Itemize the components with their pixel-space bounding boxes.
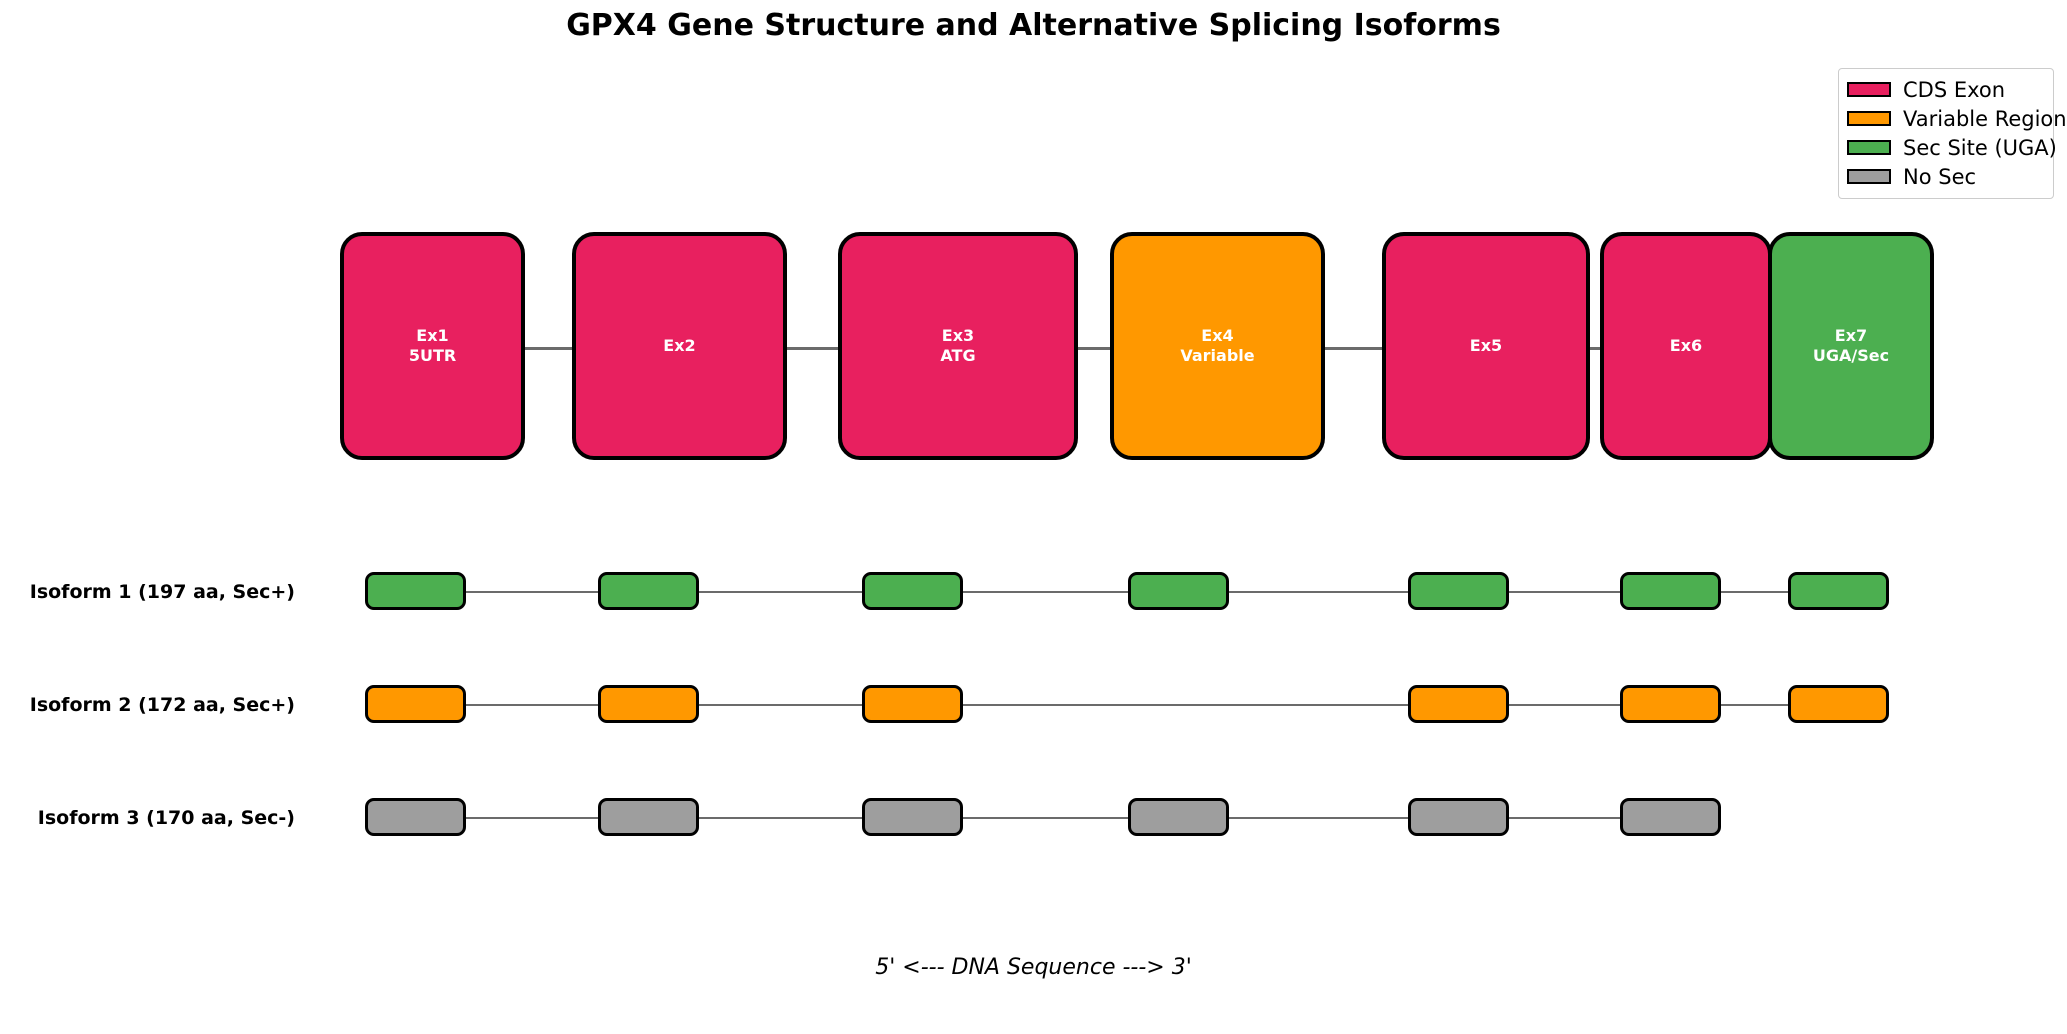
- isoform-3-block-ex4[interactable]: [1128, 798, 1229, 836]
- isoform-connector: [963, 704, 1408, 706]
- isoform-1-block-ex1[interactable]: [365, 572, 466, 610]
- isoform-2-block-ex3[interactable]: [862, 685, 963, 723]
- exon-box-ex3[interactable]: Ex3ATG: [838, 232, 1078, 460]
- isoform-1-block-ex7[interactable]: [1788, 572, 1889, 610]
- isoform-connector: [1229, 591, 1408, 593]
- isoform-connector: [1509, 704, 1620, 706]
- isoform-connector: [1721, 591, 1788, 593]
- isoform-3-block-ex6[interactable]: [1620, 798, 1721, 836]
- isoform-connector: [699, 704, 862, 706]
- isoform-connector: [963, 817, 1128, 819]
- exon-label-secondary: 5UTR: [409, 346, 456, 366]
- isoform-connector: [1229, 817, 1408, 819]
- isoform-2-block-ex7[interactable]: [1788, 685, 1889, 723]
- dna-direction-caption: 5' <--- DNA Sequence ---> 3': [0, 955, 2067, 980]
- isoform-3-block-ex3[interactable]: [862, 798, 963, 836]
- exon-label-primary: Ex1: [416, 326, 448, 346]
- exon-label-primary: Ex3: [942, 326, 974, 346]
- exon-box-ex4[interactable]: Ex4Variable: [1110, 232, 1325, 460]
- exon-box-ex5[interactable]: Ex5: [1382, 232, 1590, 460]
- isoform-connector: [699, 817, 862, 819]
- isoform-connector: [699, 591, 862, 593]
- isoform-connector: [1721, 704, 1788, 706]
- isoform-1-block-ex4[interactable]: [1128, 572, 1229, 610]
- isoform-connector: [466, 704, 598, 706]
- isoform-3-block-ex2[interactable]: [598, 798, 699, 836]
- isoform-3-block-ex5[interactable]: [1408, 798, 1509, 836]
- exon-box-ex1[interactable]: Ex15UTR: [340, 232, 525, 460]
- isoform-1-block-ex3[interactable]: [862, 572, 963, 610]
- isoform-2-block-ex1[interactable]: [365, 685, 466, 723]
- isoform-1-block-ex5[interactable]: [1408, 572, 1509, 610]
- isoform-2-block-ex2[interactable]: [598, 685, 699, 723]
- figure-canvas: GPX4 Gene Structure and Alternative Spli…: [0, 0, 2067, 1034]
- exon-label-secondary: UGA/Sec: [1813, 346, 1889, 366]
- exon-label-primary: Ex6: [1670, 336, 1702, 356]
- isoform-connector: [466, 591, 598, 593]
- gene-structure-track: Ex15UTREx2Ex3ATGEx4VariableEx5Ex6Ex7UGA/…: [0, 0, 2067, 1034]
- exon-label-primary: Ex5: [1470, 336, 1502, 356]
- exon-box-ex6[interactable]: Ex6: [1600, 232, 1772, 460]
- isoform-label-1: Isoform 1 (197 aa, Sec+): [0, 581, 295, 603]
- isoform-1-block-ex2[interactable]: [598, 572, 699, 610]
- isoform-1-block-ex6[interactable]: [1620, 572, 1721, 610]
- isoform-label-2: Isoform 2 (172 aa, Sec+): [0, 694, 295, 716]
- exon-label-secondary: ATG: [940, 346, 975, 366]
- exon-box-ex7[interactable]: Ex7UGA/Sec: [1768, 232, 1934, 460]
- isoform-3-block-ex1[interactable]: [365, 798, 466, 836]
- isoform-connector: [1509, 591, 1620, 593]
- exon-label-primary: Ex7: [1835, 326, 1867, 346]
- isoform-2-block-ex5[interactable]: [1408, 685, 1509, 723]
- exon-box-ex2[interactable]: Ex2: [572, 232, 787, 460]
- exon-label-primary: Ex2: [663, 336, 695, 356]
- isoform-2-block-ex6[interactable]: [1620, 685, 1721, 723]
- isoform-label-3: Isoform 3 (170 aa, Sec-): [0, 807, 295, 829]
- isoform-connector: [963, 591, 1128, 593]
- exon-label-secondary: Variable: [1180, 346, 1254, 366]
- isoform-connector: [1509, 817, 1620, 819]
- exon-label-primary: Ex4: [1201, 326, 1233, 346]
- isoform-connector: [466, 817, 598, 819]
